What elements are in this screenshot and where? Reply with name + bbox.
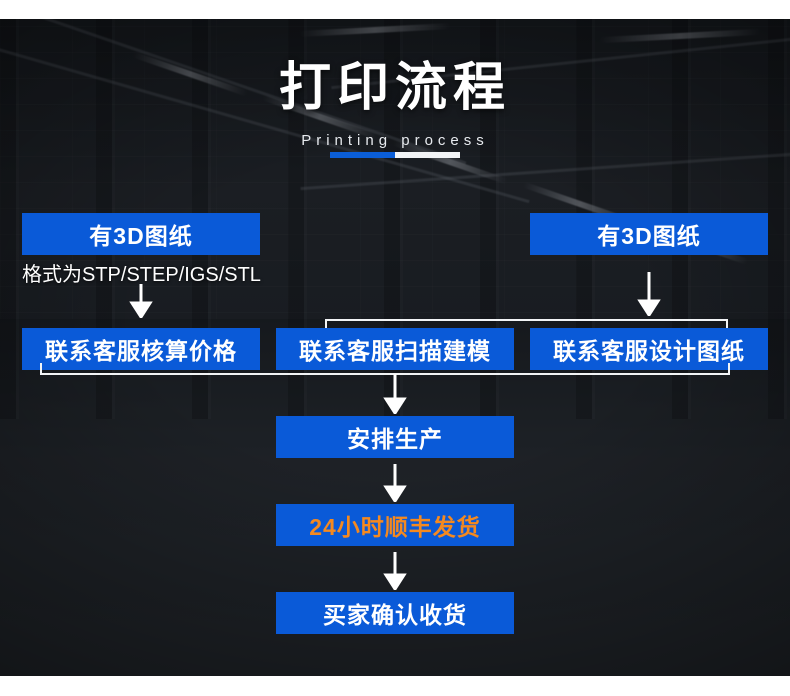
arrow-down-icon xyxy=(382,552,408,590)
arrow-down-icon xyxy=(128,284,154,318)
page-subtitle: Printing process xyxy=(0,132,790,150)
flow-box-label: 24小时顺丰发货 xyxy=(309,508,481,542)
flow-box-label: 有3D图纸 xyxy=(89,217,192,251)
flow-box-label: 联系客服设计图纸 xyxy=(553,332,745,366)
flow-box-quote-price[interactable]: 联系客服核算价格 xyxy=(22,328,260,370)
bracket-top-horizontal xyxy=(325,319,728,321)
flowchart-banner: 打印流程 Printing process 有3D图纸 有3D图纸 格式为STP… xyxy=(0,0,790,696)
title-rule-blue xyxy=(330,152,395,158)
title-rule-white xyxy=(395,152,460,158)
flow-box-label: 联系客服扫描建模 xyxy=(299,332,491,366)
flow-box-scan-modeling[interactable]: 联系客服扫描建模 xyxy=(276,328,514,370)
format-note: 格式为STP/STEP/IGS/STL xyxy=(22,258,260,287)
bracket-bottom-right-tick xyxy=(728,363,730,374)
arrow-down-icon xyxy=(382,464,408,502)
flow-box-have-3d-right[interactable]: 有3D图纸 xyxy=(530,213,768,255)
flow-box-design-drawing[interactable]: 联系客服设计图纸 xyxy=(530,328,768,370)
flow-box-label: 有3D图纸 xyxy=(597,217,700,251)
flow-box-label: 安排生产 xyxy=(347,420,443,454)
flow-box-have-3d-left[interactable]: 有3D图纸 xyxy=(22,213,260,255)
header-block: 打印流程 Printing process xyxy=(0,58,790,150)
flow-box-24h-shipping[interactable]: 24小时顺丰发货 xyxy=(276,504,514,546)
flow-box-label: 联系客服核算价格 xyxy=(45,332,237,366)
arrow-down-icon xyxy=(382,374,408,414)
flow-box-buyer-confirm[interactable]: 买家确认收货 xyxy=(276,592,514,634)
bracket-bottom-left-tick xyxy=(40,363,42,374)
flow-box-arrange-production[interactable]: 安排生产 xyxy=(276,416,514,458)
flow-box-label: 买家确认收货 xyxy=(323,596,467,630)
page-title: 打印流程 xyxy=(0,58,790,118)
arrow-down-icon xyxy=(636,272,662,316)
